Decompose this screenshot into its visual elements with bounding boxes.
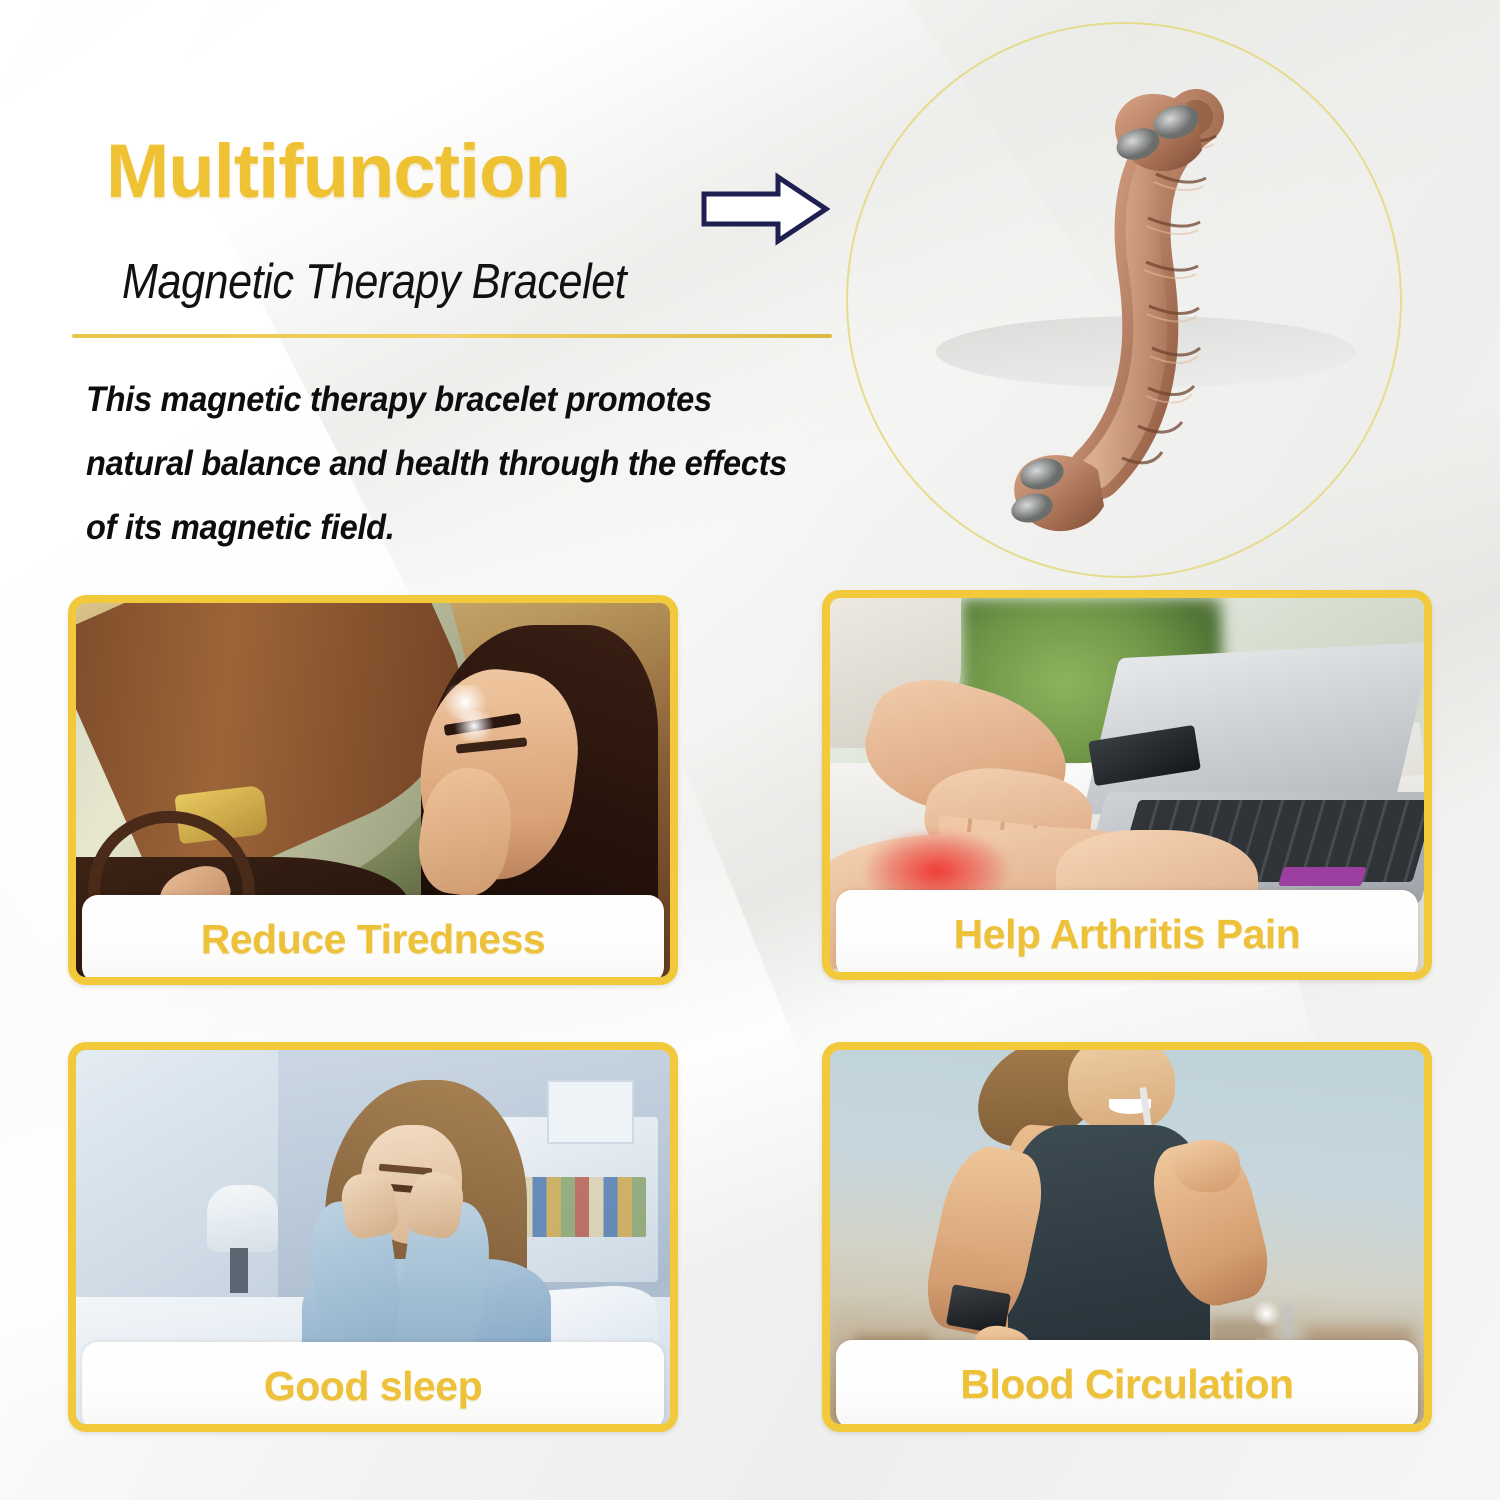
feature-label: Reduce Tiredness [201, 916, 545, 963]
feature-label: Help Arthritis Pain [954, 911, 1301, 958]
feature-label-band: Good sleep [82, 1342, 664, 1430]
page-title: Multifunction [106, 128, 570, 215]
feature-label: Blood Circulation [960, 1361, 1293, 1408]
feature-label-band: Help Arthritis Pain [836, 890, 1418, 978]
page-subtitle: Magnetic Therapy Bracelet [122, 254, 626, 310]
feature-card-help-arthritis-pain[interactable]: Help Arthritis Pain [822, 590, 1432, 980]
feature-label-band: Reduce Tiredness [82, 895, 664, 983]
feature-card-blood-circulation[interactable]: Blood Circulation [822, 1042, 1432, 1432]
product-description: This magnetic therapy bracelet promotes … [86, 368, 793, 560]
arrow-right-icon [700, 172, 830, 246]
infographic-page: Multifunction Magnetic Therapy Bracelet … [0, 0, 1500, 1500]
feature-label-band: Blood Circulation [836, 1340, 1418, 1428]
feature-label: Good sleep [264, 1363, 482, 1410]
title-divider [72, 334, 832, 338]
feature-card-good-sleep[interactable]: Good sleep [68, 1042, 678, 1432]
copper-bracelet-image [846, 22, 1402, 578]
feature-card-reduce-tiredness[interactable]: Reduce Tiredness [68, 595, 678, 985]
